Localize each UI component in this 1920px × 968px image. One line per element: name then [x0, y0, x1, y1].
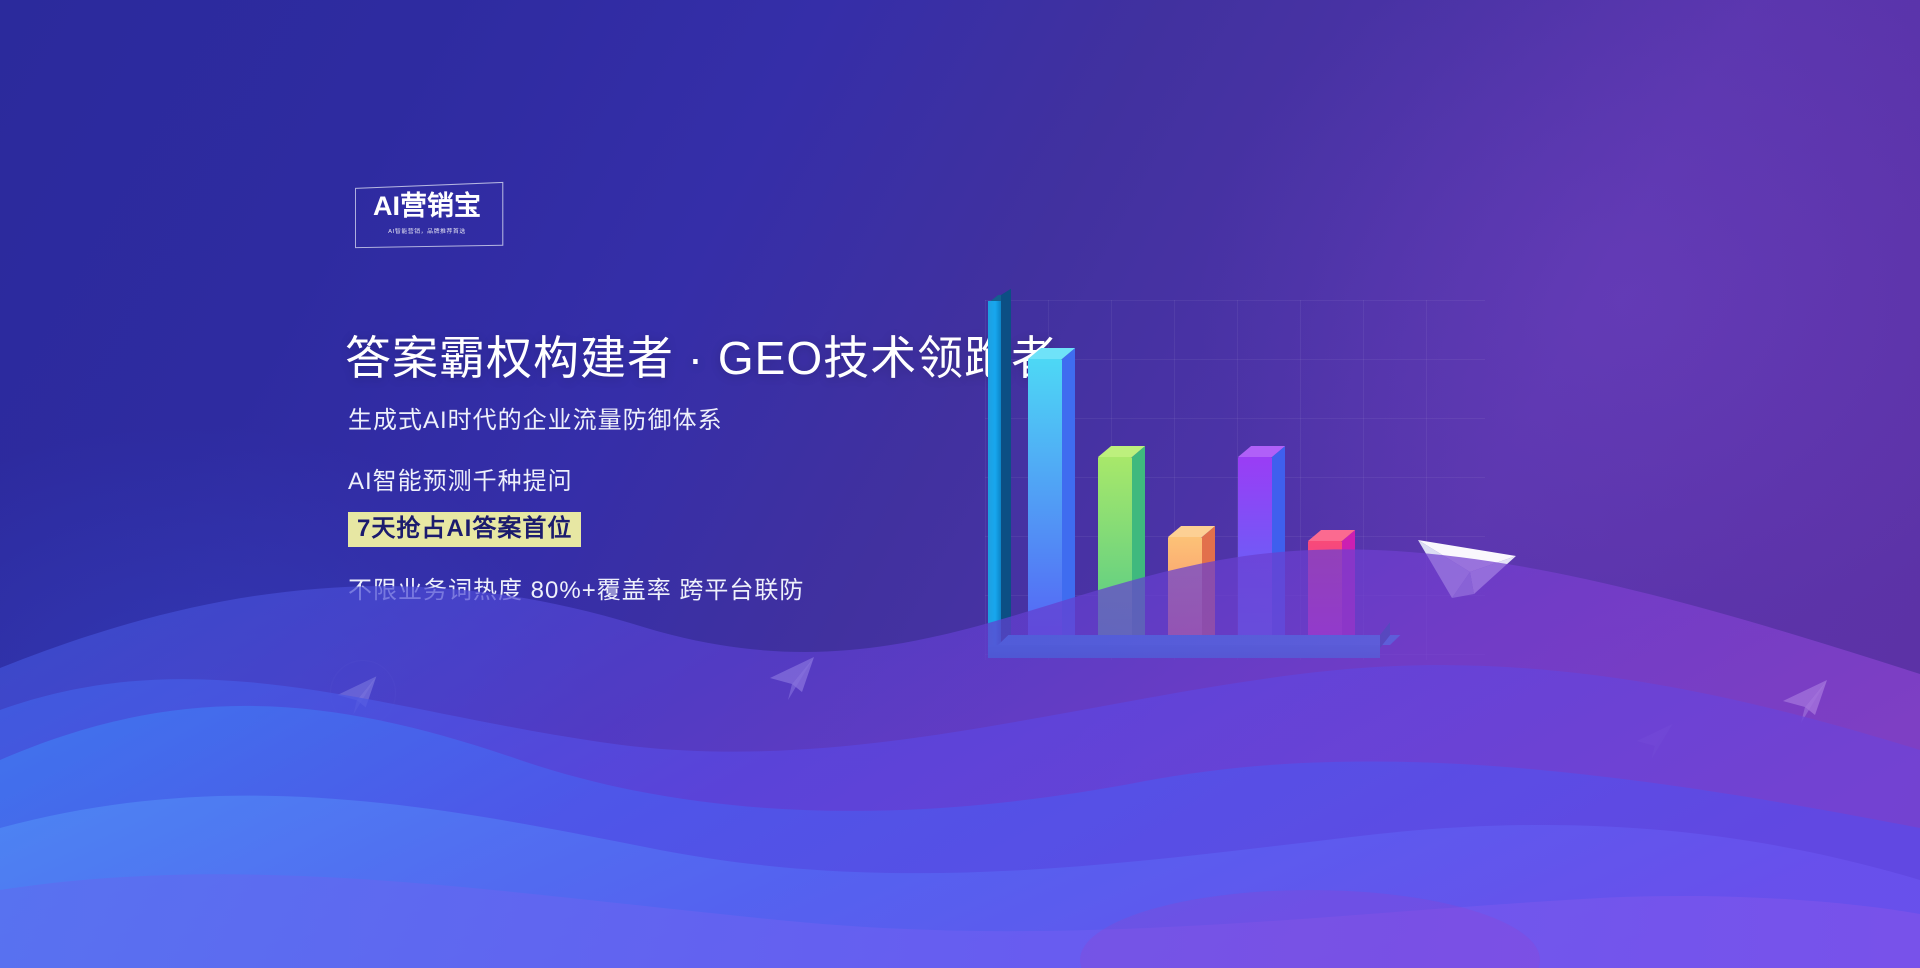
- logo-tagline: AI智能营销，品牌推荐首选: [356, 226, 499, 235]
- subtitle-line-1: 生成式AI时代的企业流量防御体系: [348, 400, 723, 435]
- page-title: 答案霸权构建者 · GEO技术领跑者: [345, 322, 1058, 388]
- logo-text: AI营销宝: [352, 193, 502, 220]
- logo[interactable]: AI营销宝 AI智能营销，品牌推荐首选: [352, 185, 502, 247]
- subtitle-line-2: AI智能预测千种提问: [348, 461, 573, 496]
- background-waves: [0, 498, 1920, 968]
- hero-banner: AI营销宝 AI智能营销，品牌推荐首选 答案霸权构建者 · GEO技术领跑者 生…: [0, 0, 1920, 968]
